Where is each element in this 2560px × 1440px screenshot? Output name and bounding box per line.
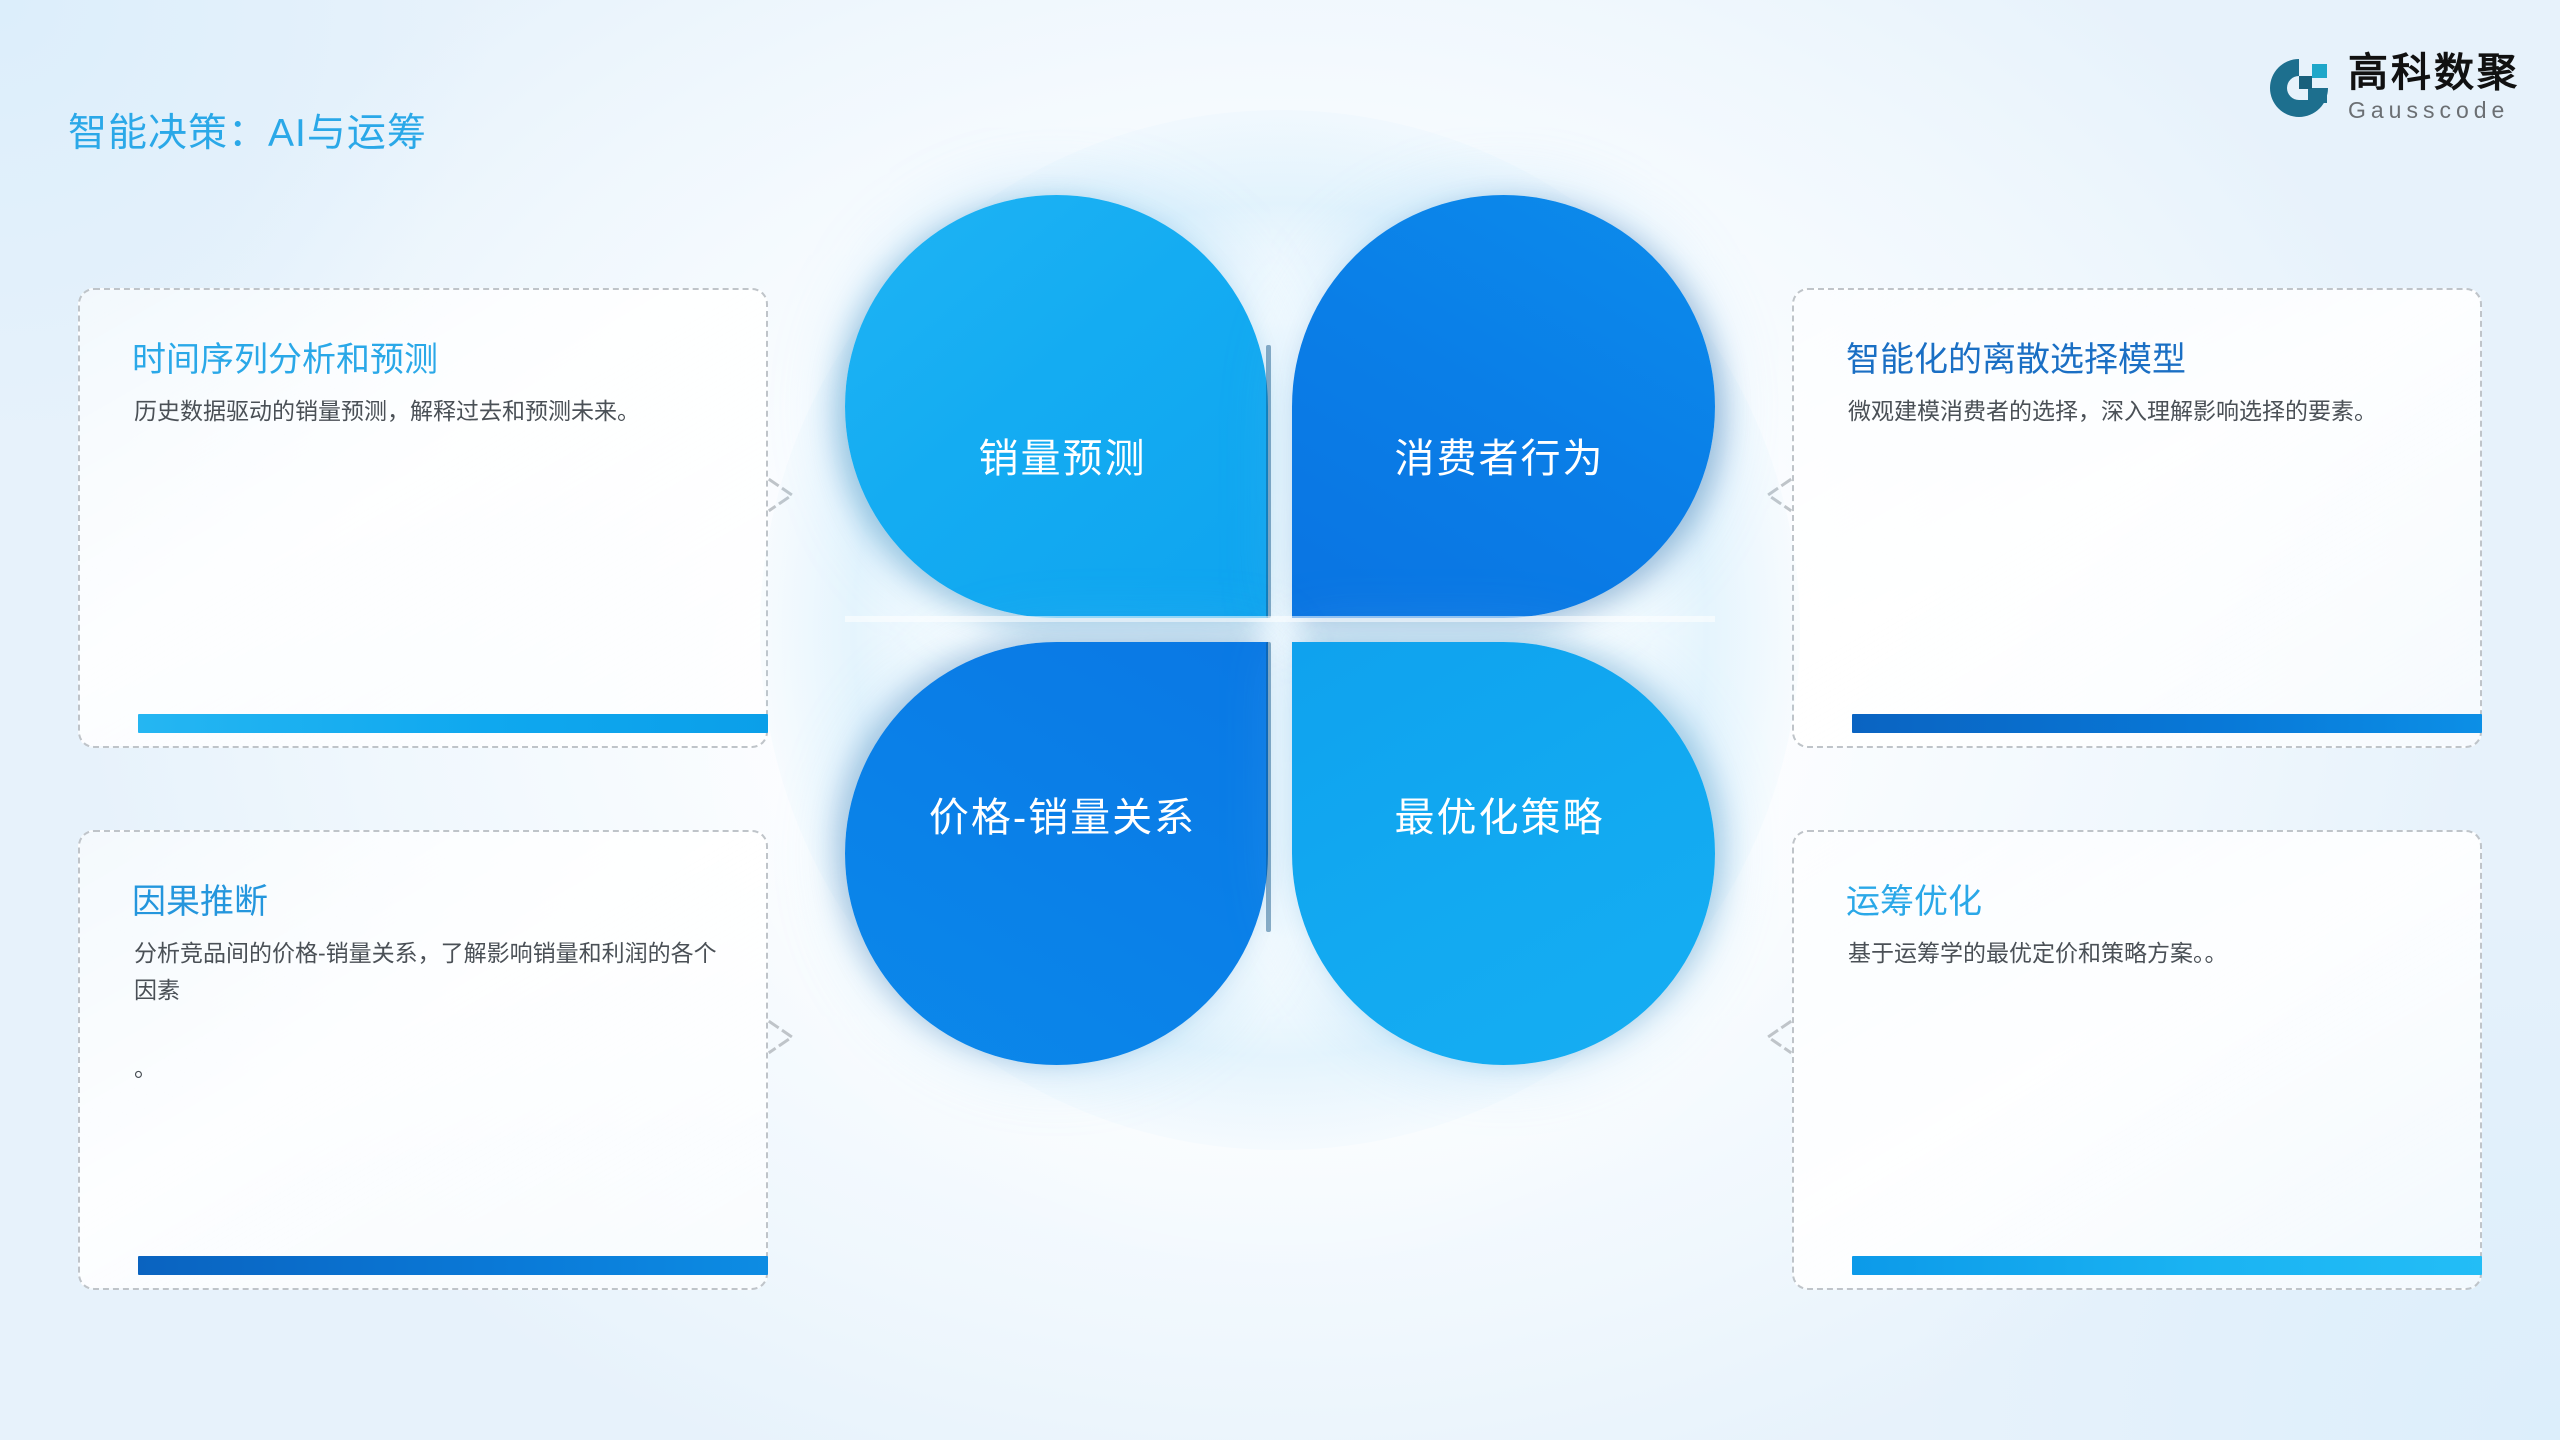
card-title: 因果推断 (132, 874, 268, 923)
brand-logo: 高科数聚 Gausscode (2266, 44, 2520, 132)
petal-label: 消费者行为 (1395, 426, 1605, 484)
petal-seam-horizontal (845, 616, 1715, 622)
petal-label: 最优化策略 (1395, 785, 1605, 843)
page-title: 智能决策：AI与运筹 (68, 102, 427, 158)
petal-label: 价格-销量关系 (929, 785, 1196, 843)
chevron-right-icon-card-1 (762, 472, 808, 518)
card-accent-bar (1852, 1256, 2482, 1275)
slide-header: 智能决策：AI与运筹 高科数聚 Gausscode (0, 0, 2560, 170)
petal-optimal-strategy[interactable]: 最优化策略 (1292, 642, 1715, 1065)
card-title: 运筹优化 (1846, 874, 1982, 923)
petal-sales-forecast[interactable]: 销量预测 (845, 195, 1268, 618)
card-title: 时间序列分析和预测 (132, 332, 438, 381)
four-petal-diagram: 销量预测 消费者行为 价格-销量关系 最优化策略 (845, 195, 1715, 1065)
card-body: 分析竞品间的价格-销量关系，了解影响销量和利润的各个因素 (134, 935, 734, 1010)
chevron-left-icon-card-4 (1752, 1014, 1798, 1060)
petal-consumer-behavior[interactable]: 消费者行为 (1292, 195, 1715, 618)
card-accent-bar (138, 1256, 768, 1275)
info-card-causal-inference[interactable]: 因果推断 分析竞品间的价格-销量关系，了解影响销量和利润的各个因素 。 (78, 830, 768, 1290)
brand-name-cn: 高科数聚 (2348, 52, 2520, 94)
petal-label: 销量预测 (979, 426, 1147, 484)
petal-seam-vertical-top (1266, 345, 1271, 618)
info-card-time-series[interactable]: 时间序列分析和预测 历史数据驱动的销量预测，解释过去和预测未来。 (78, 288, 768, 748)
info-card-discrete-choice[interactable]: 智能化的离散选择模型 微观建模消费者的选择，深入理解影响选择的要素。 (1792, 288, 2482, 748)
petal-seam-vertical-bottom (1266, 642, 1271, 932)
card-body: 历史数据驱动的销量预测，解释过去和预测未来。 (134, 393, 734, 430)
chevron-left-icon-card-2 (1752, 472, 1798, 518)
petal-price-sales-relation[interactable]: 价格-销量关系 (845, 642, 1268, 1065)
brand-logo-text: 高科数聚 Gausscode (2348, 52, 2520, 125)
card-body: 微观建模消费者的选择，深入理解影响选择的要素。 (1848, 393, 2448, 430)
card-accent-bar (138, 714, 768, 733)
card-body-extra: 。 (134, 1050, 734, 1087)
card-accent-bar (1852, 714, 2482, 733)
brand-name-en: Gausscode (2348, 96, 2520, 125)
info-card-operations-optimization[interactable]: 运筹优化 基于运筹学的最优定价和策略方案。。 (1792, 830, 2482, 1290)
card-title: 智能化的离散选择模型 (1846, 332, 2186, 381)
chevron-right-icon-card-3 (762, 1014, 808, 1060)
gausscode-g-logo-icon (2266, 55, 2332, 121)
card-body: 基于运筹学的最优定价和策略方案。。 (1848, 935, 2448, 972)
